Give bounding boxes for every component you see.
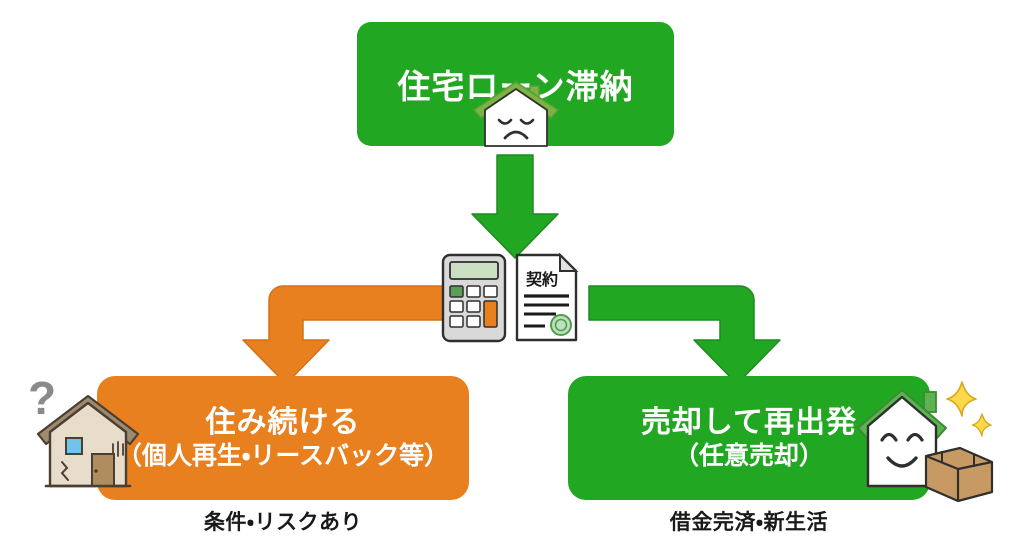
sparkle-icon: [947, 382, 991, 436]
down-arrow-trunk: [472, 155, 558, 258]
calculator-icon: [440, 252, 508, 344]
orange-elbow-arrow-left: [243, 286, 443, 384]
happy-house-with-box-icon: [852, 370, 1012, 502]
sad-house-icon: [468, 80, 564, 150]
node-sell-subtitle: （任意売却）: [674, 443, 824, 471]
caption-sell: 借金完済・新生活: [568, 506, 930, 536]
caption-stay: 条件・リスクあり: [97, 506, 469, 536]
moving-box-icon: [926, 448, 992, 501]
contract-label: 契約: [526, 270, 558, 289]
node-stay-title: 住み続ける: [206, 406, 361, 439]
seal-stamp-icon: [551, 315, 571, 335]
node-sell-title: 売却して再出発: [641, 406, 857, 439]
node-stay-subtitle: （個人再生・リースバック等）: [117, 443, 449, 471]
green-elbow-arrow-right: [589, 286, 780, 384]
contract-document-icon: 契約: [512, 252, 582, 344]
old-house-with-question-icon: ?: [22, 372, 154, 502]
svg-text:?: ?: [28, 372, 56, 424]
diagram-canvas: 住宅ローン滞納: [0, 0, 1024, 559]
question-mark-icon: ?: [28, 372, 56, 424]
